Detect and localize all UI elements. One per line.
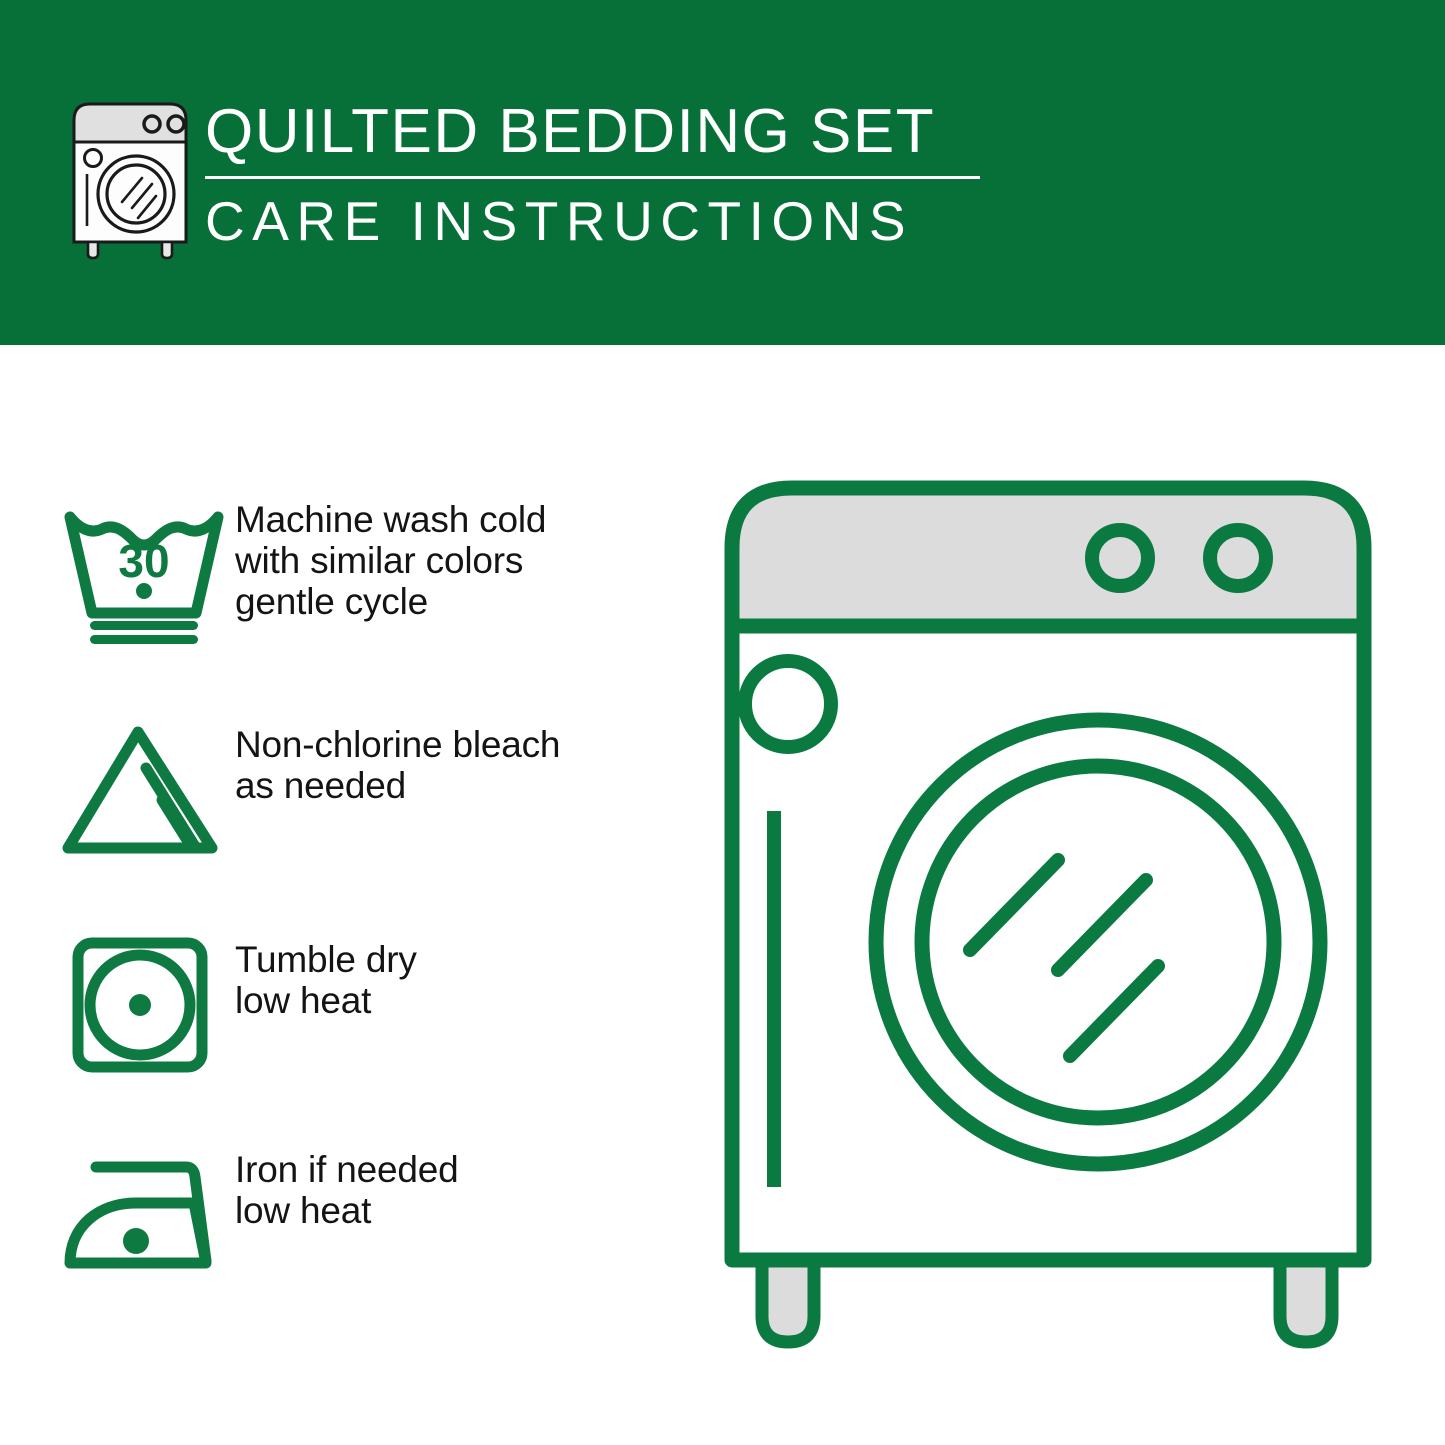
page-title: QUILTED BEDDING SET (205, 96, 995, 168)
care-item-tumble-dry: Tumble dry low heat (60, 935, 700, 1075)
care-text-line: as needed (235, 765, 560, 806)
care-item-iron: Iron if needed low heat (60, 1145, 700, 1285)
care-text-line: Iron if needed (235, 1149, 458, 1190)
wash-tub-30-gentle-icon: 30 (60, 495, 235, 645)
iron-low-heat-icon (60, 1145, 235, 1285)
care-item-bleach: Non-chlorine bleach as needed (60, 720, 700, 860)
svg-text:30: 30 (118, 535, 169, 587)
page-subtitle: CARE INSTRUCTIONS (205, 189, 995, 253)
care-text-line: low heat (235, 980, 417, 1021)
title-divider (205, 176, 980, 179)
header-text-block: QUILTED BEDDING SET CARE INSTRUCTIONS (205, 96, 995, 253)
care-text-line: Machine wash cold (235, 499, 546, 540)
care-item-machine-wash: 30 Machine wash cold with similar colors… (60, 495, 700, 645)
header-banner: QUILTED BEDDING SET CARE INSTRUCTIONS (0, 0, 1445, 345)
care-item-text: Machine wash cold with similar colors ge… (235, 495, 546, 622)
care-item-text: Iron if needed low heat (235, 1145, 458, 1231)
washing-machine-icon (60, 98, 200, 258)
non-chlorine-bleach-triangle-icon (60, 720, 235, 860)
care-text-line: with similar colors (235, 540, 546, 581)
care-text-line: gentle cycle (235, 581, 546, 622)
tumble-dry-low-heat-icon (60, 935, 235, 1075)
care-instruction-list: 30 Machine wash cold with similar colors… (0, 345, 700, 1445)
care-item-text: Non-chlorine bleach as needed (235, 720, 560, 806)
care-instructions-page: QUILTED BEDDING SET CARE INSTRUCTIONS 30 (0, 0, 1445, 1445)
care-text-line: Tumble dry (235, 939, 417, 980)
care-text-line: Non-chlorine bleach (235, 724, 560, 765)
care-item-text: Tumble dry low heat (235, 935, 417, 1021)
care-text-line: low heat (235, 1190, 458, 1231)
front-load-washing-machine-illustration (718, 470, 1398, 1370)
